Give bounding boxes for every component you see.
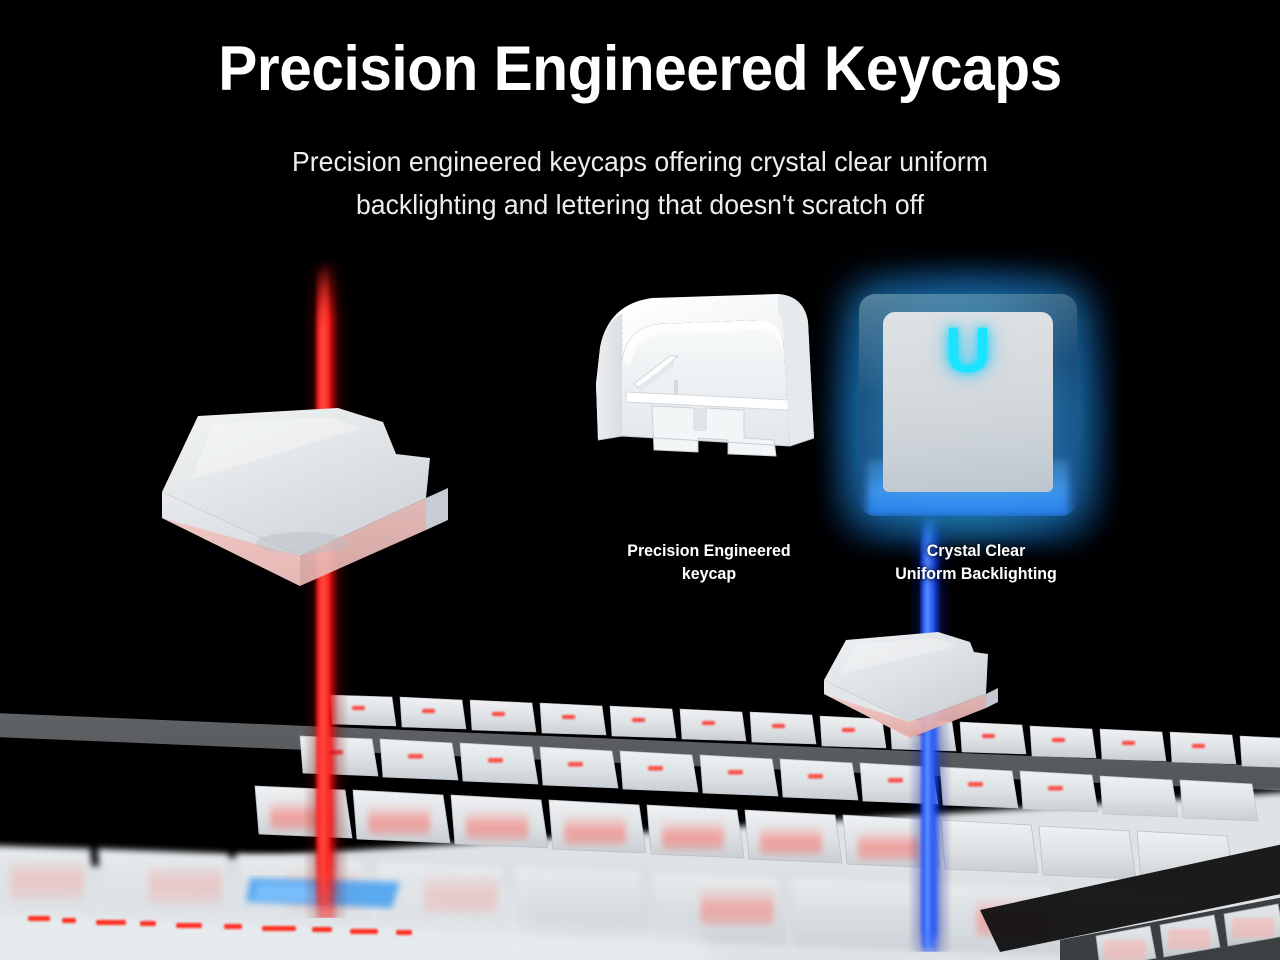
callout-line-2: Uniform Backlighting [853, 563, 1099, 586]
keycap-body: U [859, 294, 1077, 516]
callout-line-2: keycap [586, 563, 832, 586]
cutaway-keycap [578, 288, 828, 488]
page-subtitle-line-2: backlighting and lettering that doesn't … [32, 183, 1248, 226]
product-feature-banner: U Precision Engineered keycap Crystal Cl… [0, 0, 1280, 960]
callout-line-1: Crystal Clear [853, 540, 1099, 563]
page-subtitle-line-1: Precision engineered keycaps offering cr… [32, 140, 1248, 183]
callout-line-1: Precision Engineered [586, 540, 832, 563]
page-title: Precision Engineered Keycaps [45, 36, 1235, 102]
backlit-keycap: U [845, 282, 1093, 530]
floating-keycap-right [818, 618, 1043, 748]
callout-label-precision-keycap: Precision Engineered keycap [586, 540, 832, 586]
page-subtitle: Precision engineered keycaps offering cr… [32, 140, 1248, 227]
keycap-legend: U [859, 318, 1077, 382]
callout-label-uniform-backlighting: Crystal Clear Uniform Backlighting [853, 540, 1099, 586]
floating-keycap-left [150, 380, 480, 610]
keyboard-illustration [0, 640, 1280, 960]
